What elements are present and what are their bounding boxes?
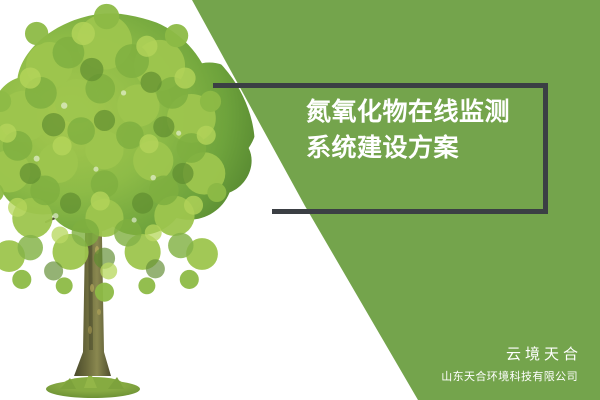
brand-name: 云境天合: [441, 344, 582, 366]
tree-illustration: [0, 0, 600, 400]
brand-company-name: 山东天合环境科技有限公司: [441, 368, 578, 386]
brand-block: 云境天合 山东天合环境科技有限公司: [441, 344, 578, 386]
presentation-cover-slide: 氮氧化物在线监测 系统建设方案 云境天合 山东天合环境科技有限公司: [0, 0, 600, 400]
slide-title-line-1: 氮氧化物在线监测: [306, 94, 546, 130]
tree-canopy: [0, 4, 255, 302]
slide-title-line-2: 系统建设方案: [306, 130, 546, 166]
slide-title: 氮氧化物在线监测 系统建设方案: [306, 94, 546, 166]
